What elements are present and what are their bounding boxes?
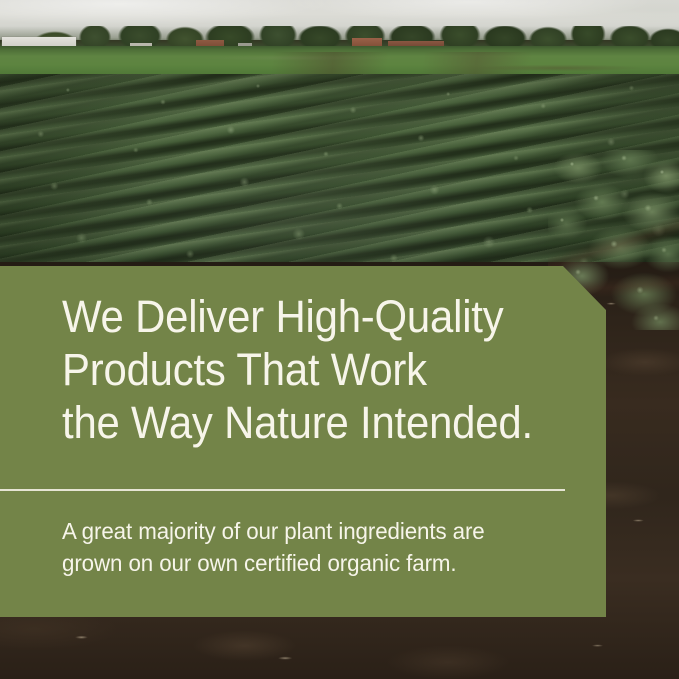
banner-image: We Deliver High-Quality Products That Wo… [0,0,679,679]
subtitle-text: A great majority of our plant ingredient… [62,515,570,579]
horizontal-divider [0,489,565,491]
callout-content: We Deliver High-Quality Products That Wo… [0,266,606,617]
page-title: We Deliver High-Quality Products That Wo… [62,290,546,449]
